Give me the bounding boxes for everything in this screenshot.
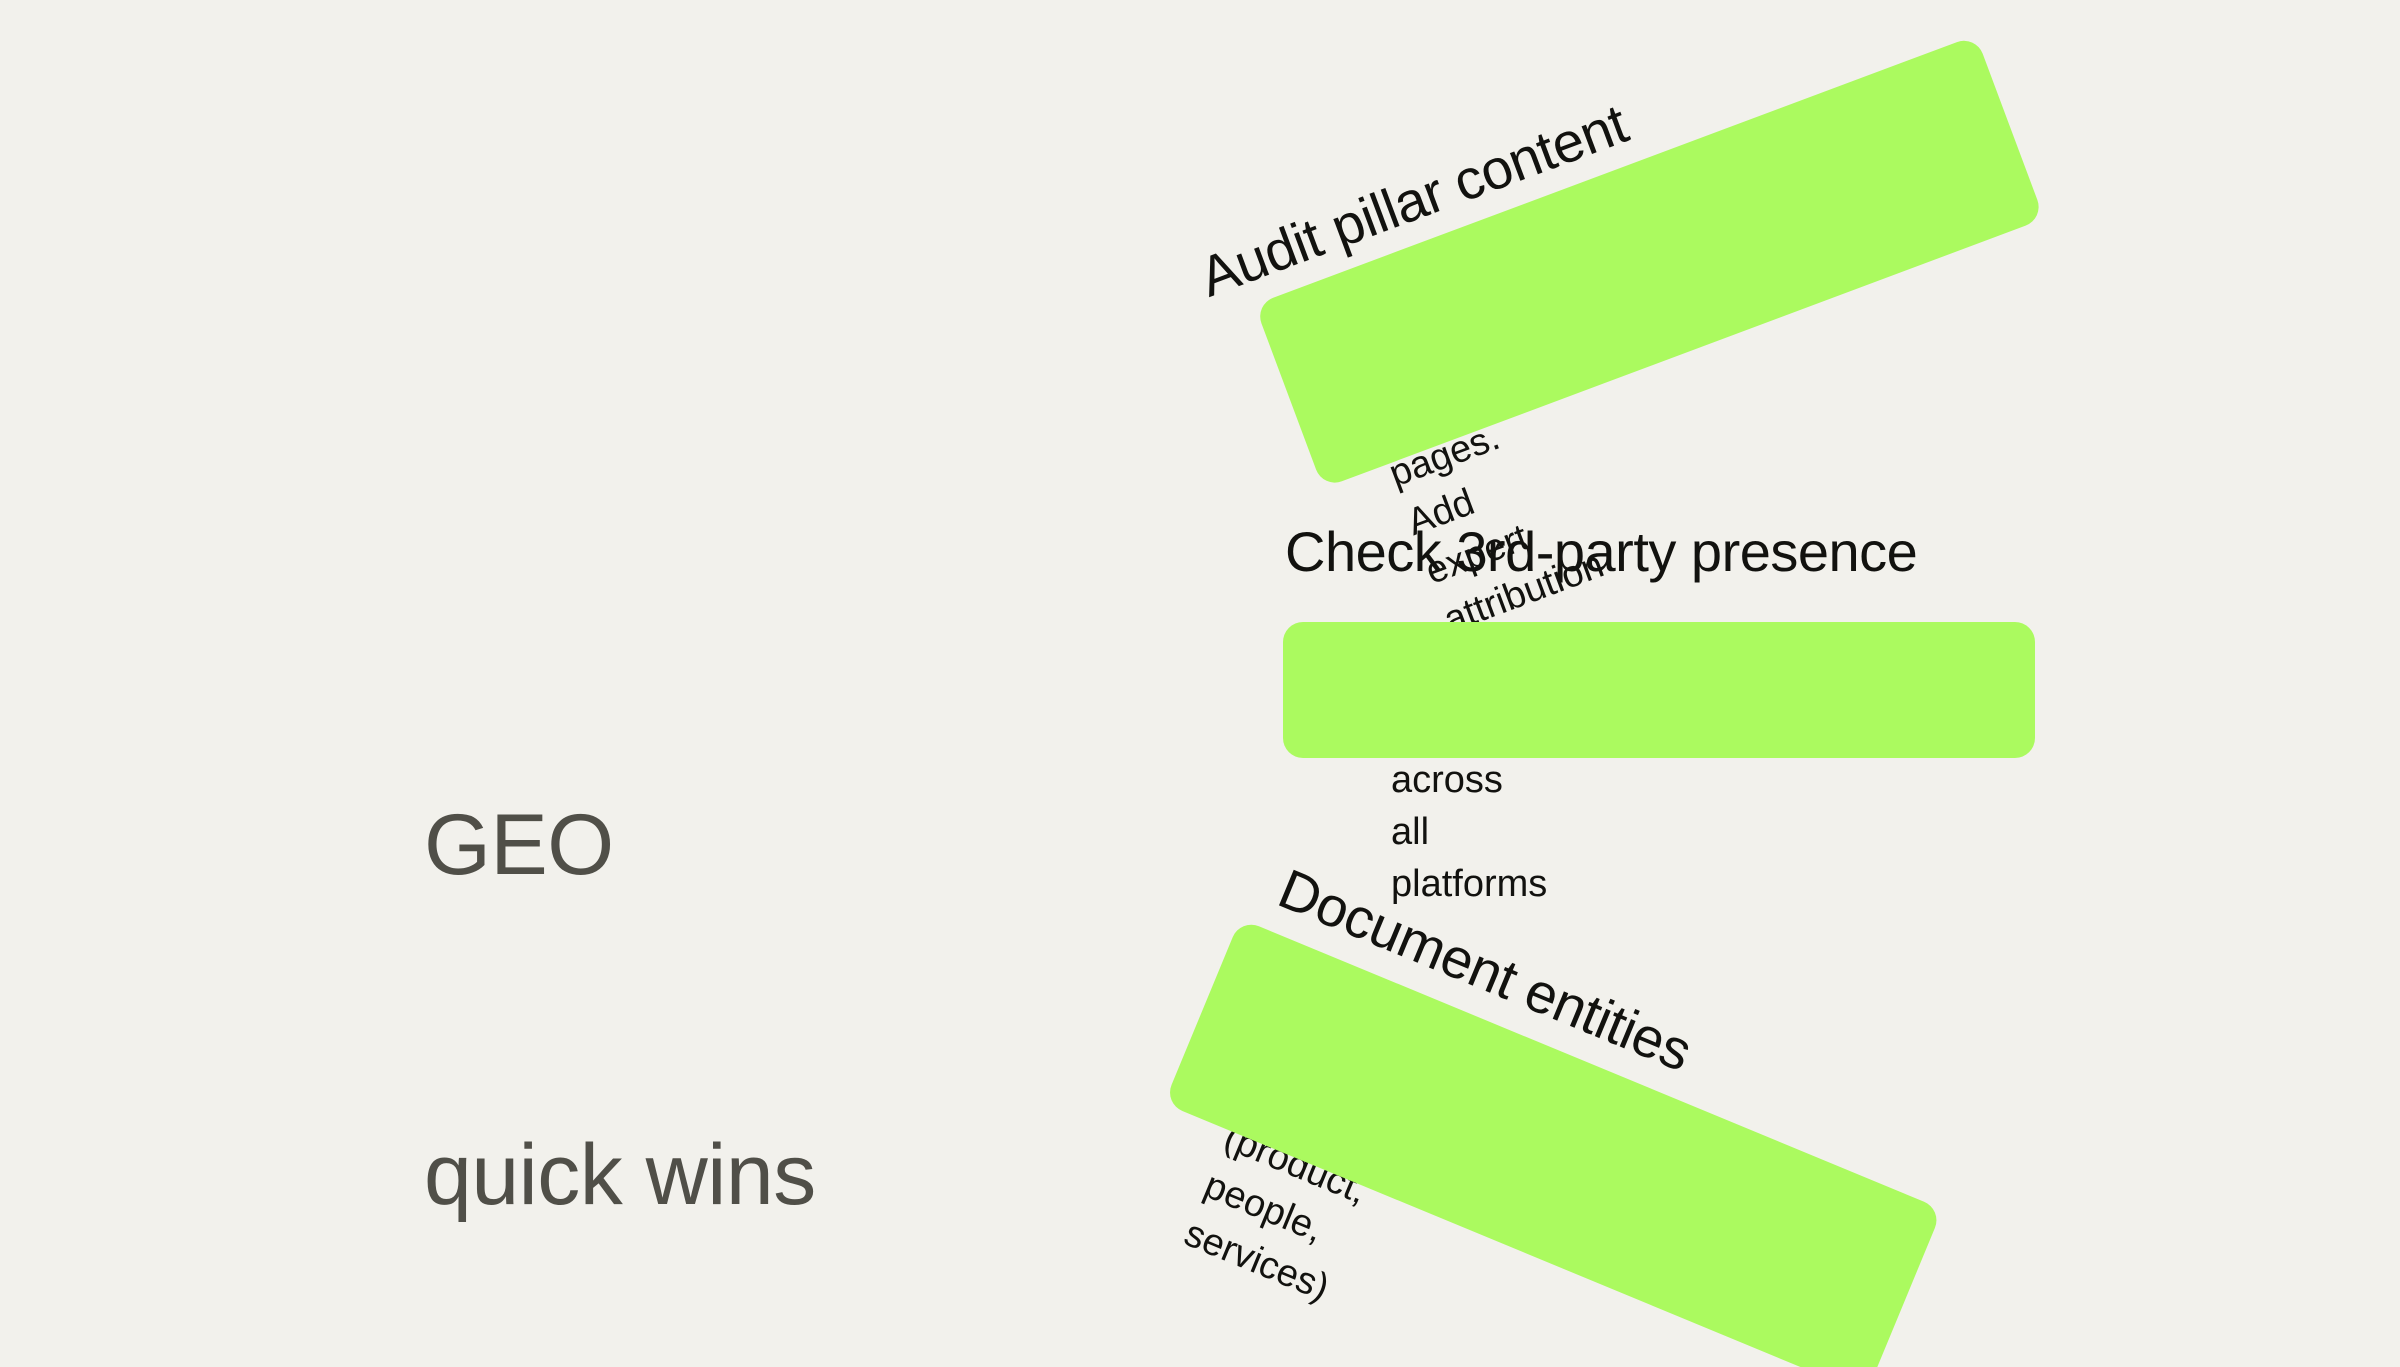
- page-title-line-2: quick wins: [424, 1120, 816, 1230]
- page-title-line-1: GEO: [424, 790, 816, 900]
- quick-win-callout-box: [1283, 622, 2035, 758]
- page-title: GEO quick wins: [424, 570, 816, 1367]
- slide-canvas: GEO quick wins Audit pillar content Focu…: [0, 0, 2400, 1367]
- quick-win-title: Check 3rd-party presence: [1285, 520, 1917, 584]
- quick-win-callout-box: [1254, 35, 2044, 488]
